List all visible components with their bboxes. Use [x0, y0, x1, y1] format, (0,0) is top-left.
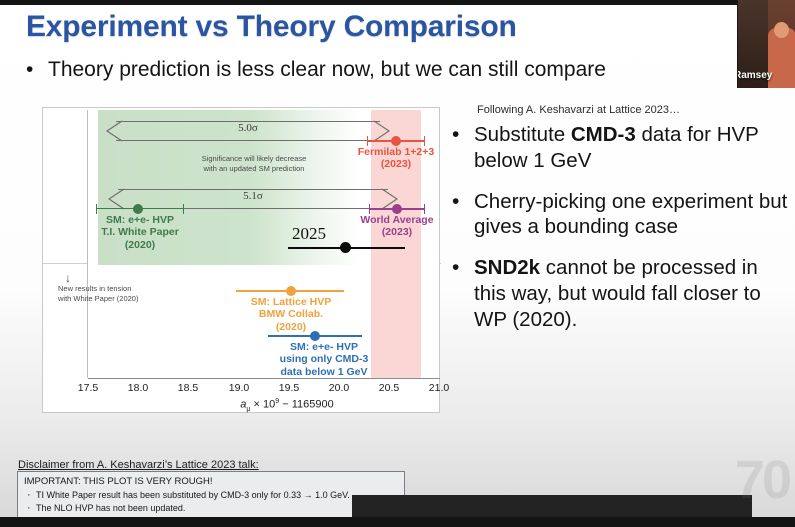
tension-note: New results in tension with White Paper …	[58, 284, 166, 304]
point-label-cmd3: SM: e+e- HVP using only CMD-3 data below…	[274, 341, 374, 378]
projector-edge-strip	[352, 495, 752, 517]
disclaimer-heading: IMPORTANT: THIS PLOT IS VERY ROUGH!	[24, 476, 398, 487]
bullet-glyph: •	[26, 58, 48, 82]
bullet-list: • Substitute CMD-3 data for HVP below 1 …	[452, 122, 795, 348]
significance-label-2: 5.1σ	[237, 190, 269, 202]
watermark: 70	[735, 449, 789, 511]
arrow-shaft-bottom	[116, 140, 380, 141]
errorbar-cap-left	[96, 204, 97, 214]
list-item: • SND2k cannot be processed in this way,…	[452, 255, 795, 332]
source-attribution: Following A. Keshavarzi at Lattice 2023…	[477, 104, 680, 116]
data-marker	[310, 331, 320, 341]
significance-note: Significance will likely decrease with a…	[154, 154, 354, 174]
bullet-glyph: •	[452, 189, 474, 241]
errorbar-cap-right	[424, 136, 425, 146]
x-tick-0: 17.5	[78, 382, 98, 394]
webcam-video-tile[interactable]: Ramsey	[737, 0, 795, 88]
errorbar-cap-left	[367, 136, 368, 146]
ink-annotation-year: 2025	[292, 224, 326, 244]
point-label-bmw: SM: Lattice HVP BMW Collab. (2020)	[242, 296, 340, 333]
bullet-glyph: •	[452, 122, 474, 174]
bullet-part-bold: CMD-3	[571, 123, 636, 146]
comparison-plot: 5.0σ Significance will likely decrease w…	[42, 107, 440, 413]
x-tick-7: 21.0	[429, 382, 449, 394]
errorbar-cap-right	[183, 204, 184, 214]
list-item: • Substitute CMD-3 data for HVP below 1 …	[452, 122, 795, 174]
x-tick-5: 20.0	[329, 382, 349, 394]
bullet-text-substitute-cmd3: Substitute CMD-3 data for HVP below 1 Ge…	[474, 122, 795, 174]
x-tick-1: 18.0	[128, 382, 148, 394]
x-tick-6: 20.5	[379, 382, 399, 394]
x-axis-offset: − 1165900	[279, 399, 334, 411]
bullet-part-bold: SND2k	[474, 256, 540, 279]
disclaimer-item: The NLO HVP has not been updated.	[24, 502, 398, 515]
letterbox-bottom	[0, 517, 795, 527]
letterbox-top	[0, 0, 795, 5]
data-marker	[392, 204, 402, 214]
x-tick-2: 18.5	[178, 382, 198, 394]
slide-screen: Experiment vs Theory Comparison •Theory …	[0, 0, 795, 527]
top-bullet-text: Theory prediction is less clear now, but…	[48, 58, 606, 81]
point-label-white-paper: SM: e+e- HVP T.I. White Paper (2020)	[88, 214, 192, 251]
significance-label-1: 5.0σ	[232, 122, 264, 134]
data-marker	[286, 286, 296, 296]
point-label-world-average: World Average (2023)	[347, 214, 447, 239]
page-title: Experiment vs Theory Comparison	[26, 10, 517, 44]
disclaimer-item: TI White Paper result has been substitut…	[24, 489, 398, 502]
x-axis-title: aμ × 109 − 1165900	[240, 398, 333, 413]
bullet-part: Substitute	[474, 123, 571, 146]
point-label-fermilab: Fermilab 1+2+3 (2023)	[345, 146, 447, 171]
arrow-head-left-icon	[106, 118, 122, 144]
errorbar-cap-left	[369, 204, 370, 214]
bullet-text-cherry-picking: Cherry-picking one experiment but gives …	[474, 189, 795, 241]
significance-arrow-1: 5.0σ	[106, 118, 390, 144]
data-marker	[133, 204, 143, 214]
x-tick-3: 19.0	[229, 382, 249, 394]
x-axis-line	[88, 378, 440, 379]
list-item: • Cherry-picking one experiment but give…	[452, 189, 795, 241]
data-marker	[391, 136, 401, 146]
x-tick-4: 19.5	[279, 382, 299, 394]
webcam-name-label: Ramsey	[737, 70, 772, 81]
ink-annotation-dot	[340, 242, 351, 253]
plot-area: 5.0σ Significance will likely decrease w…	[87, 110, 439, 378]
x-axis-mul: × 10	[250, 399, 275, 411]
bullet-text-snd2k: SND2k cannot be processed in this way, b…	[474, 255, 795, 332]
bullet-glyph: •	[452, 255, 474, 332]
errorbar-cap-right	[424, 204, 425, 214]
disclaimer-caption: Disclaimer from A. Keshavarzi’s Lattice …	[18, 459, 259, 471]
webcam-person-head	[774, 22, 789, 38]
top-bullet: •Theory prediction is less clear now, bu…	[26, 58, 786, 82]
